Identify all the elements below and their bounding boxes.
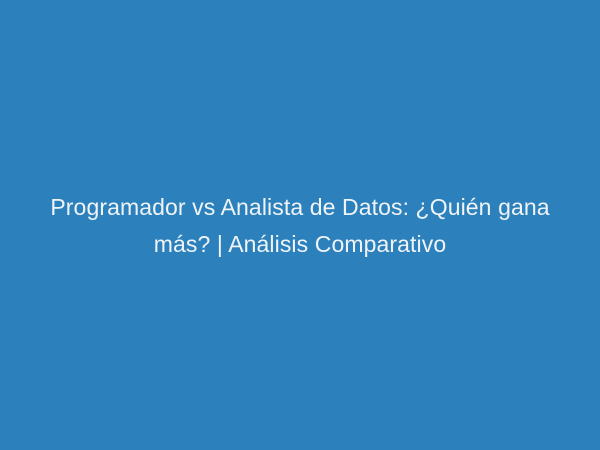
share-card: Programador vs Analista de Datos: ¿Quién… (0, 0, 600, 450)
page-title: Programador vs Analista de Datos: ¿Quién… (30, 189, 570, 263)
card-body: Programador vs Analista de Datos: ¿Quién… (0, 189, 600, 263)
